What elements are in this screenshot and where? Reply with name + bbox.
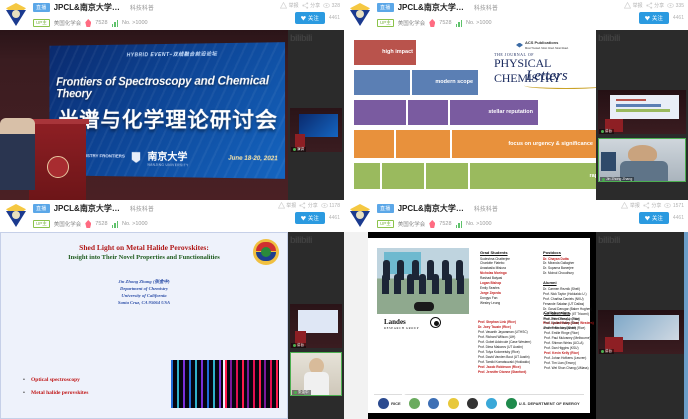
share-button[interactable]: 分享: [302, 2, 321, 9]
participant-name: 讲台: [599, 129, 614, 134]
landes-circle-icon: [430, 317, 441, 328]
acs-publications-label: ACS Publications: [525, 40, 558, 45]
participant-name: 张金中: [292, 390, 311, 395]
ucsc-logo-icon: [253, 239, 279, 265]
hot-count: 7528: [439, 221, 451, 227]
stream-header: 直播 JPCL&南京大学… 科技科普 UP主 美国化学会 7528 No. >1…: [0, 200, 344, 232]
rank-label: No. >1000: [122, 20, 148, 26]
participant-name: Jin Zhong Zhang: [600, 177, 634, 181]
bar-seg-divider: [354, 100, 408, 125]
bilibili-logo-icon: [347, 2, 373, 28]
rank-chart-icon: [112, 20, 119, 27]
stream-title[interactable]: JPCL&南京大学…: [398, 2, 464, 13]
dog: [414, 302, 434, 311]
bar-seg-divider: [354, 70, 412, 95]
name-item: Prof. Jennifer Dionne (Stanford): [478, 370, 544, 375]
conference-hall-photo: HYBRID EVENT–双线融合前沿论坛 Frontiers of Spect…: [0, 30, 288, 200]
shared-slide-perovskite[interactable]: Shed Light on Metal Halide Perovskites: …: [0, 232, 288, 419]
perovskite-title-slide: Shed Light on Metal Halide Perovskites: …: [0, 232, 288, 419]
sponsor-logo-row: RICE U.S. DEPARTMENT OF ENERGY: [374, 394, 584, 411]
name-item: Prof. Wei Shun Chang (UMass): [544, 366, 596, 371]
acknowledgements-slide: Landes RESEARCH GROUP Grad Students Sude…: [368, 238, 590, 413]
grad-students-column: Grad Students Sudeshna Chatterjee Charlo…: [480, 250, 538, 306]
report-button[interactable]: 举报: [621, 202, 640, 209]
share-label: 分享: [651, 202, 661, 209]
bar-label: stellar reputation: [488, 109, 533, 115]
stream-header: 直播 JPCL&南京大学… 科技科普 UP主 美国化学会 7528 No. >1…: [0, 0, 344, 30]
pane-edge-strip: [684, 232, 688, 419]
journal-swoosh: [524, 82, 596, 89]
stream-pane-bottom-right: 直播 JPCL&南京大学… 科技科普 UP主 美国化学会 7528 No. >1…: [344, 200, 688, 419]
stream-pane-top-right: 直播 JPCL&南京大学… 科技科普 UP主 美国化学会 7528 No. >1…: [344, 0, 688, 200]
share-label: 分享: [310, 2, 320, 9]
follow-button[interactable]: 关注: [295, 12, 325, 24]
follow-label: 关注: [308, 14, 319, 22]
stream-title[interactable]: JPCL&南京大学…: [54, 203, 120, 214]
bilibili-logo-icon: [3, 203, 29, 229]
bilibili-watermark: bilibili: [598, 33, 686, 43]
spectrum-image-left: [171, 360, 223, 408]
column-heading: Alumni: [543, 280, 596, 285]
stream-header: 直播 JPCL&南京大学… 科技科普 UP主 美国化学会 7528 No. >1…: [344, 200, 688, 232]
report-button[interactable]: 举报: [278, 202, 297, 209]
up-badge: UP主: [33, 220, 50, 228]
bar-seg-divider: [354, 163, 382, 189]
up-badge: UP主: [377, 220, 394, 228]
rank-label: No. >1000: [122, 221, 148, 227]
share-label: 分享: [308, 202, 318, 209]
participant-name: 讲台: [291, 343, 306, 348]
report-label: 举报: [633, 2, 643, 9]
stream-title[interactable]: JPCL&南京大学…: [54, 2, 120, 13]
participant-thumbnail-active-speaker[interactable]: 张金中: [290, 352, 342, 396]
column-heading: Grad Students: [480, 250, 538, 255]
sponsor-nih: [448, 398, 459, 409]
viewer-count-group: 328: [323, 2, 340, 9]
stream-category[interactable]: 科技科普: [130, 204, 154, 213]
report-label: 举报: [289, 2, 299, 9]
slide-bullet-list: Optical spectroscopy Metal halide perovs…: [23, 374, 88, 400]
uploader-name[interactable]: 美国化学会: [54, 19, 82, 27]
heart-icon: [645, 216, 650, 221]
stream-grid: 直播 JPCL&南京大学… 科技科普 UP主 美国化学会 7528 No. >1…: [0, 0, 688, 419]
sponsor-logo-row: ACS CHEMISTRY FRONTIERS 南京大学 NANJING UNI…: [63, 147, 278, 168]
stream-category[interactable]: 科技科普: [474, 3, 498, 12]
follow-button[interactable]: 关注: [639, 212, 669, 224]
rank-chart-icon: [112, 221, 119, 228]
bilibili-logo-icon: [3, 2, 29, 28]
spectrum-image-right: [225, 360, 279, 408]
stream-category[interactable]: 科技科普: [474, 204, 498, 213]
up-badge: UP主: [377, 19, 394, 27]
bilibili-watermark: bilibili: [290, 235, 342, 245]
share-label: 分享: [654, 2, 664, 9]
hot-count: 7528: [439, 20, 451, 26]
participant-thumbnail[interactable]: 演讲: [290, 108, 342, 152]
hot-icon: [429, 19, 435, 27]
bullet-item: Metal halide perovskites: [23, 387, 88, 400]
rank-chart-icon: [456, 20, 463, 27]
report-button[interactable]: 举报: [624, 2, 643, 9]
viewer-count-group: 1571: [664, 202, 684, 209]
affiliation-1: Department of Chemistry: [120, 286, 168, 291]
participant-thumbnail[interactable]: 讲台: [598, 310, 686, 354]
live-badge: 直播: [33, 3, 50, 12]
sponsor-doe: [486, 398, 497, 409]
follow-label: 关注: [652, 214, 663, 222]
slide-title-line2: Insight into Their Novel Properties and …: [1, 254, 287, 261]
university-name-cn: 南京大学: [148, 148, 189, 163]
column-heading: Postdocs: [543, 250, 596, 255]
hot-count: 7528: [95, 221, 107, 227]
viewer-count-group: 1178: [321, 202, 340, 209]
live-badge: 直播: [377, 3, 394, 12]
podium-seal: [47, 156, 69, 178]
hot-icon: [85, 220, 91, 228]
grad-students-list: Sudeshna Chatterjee Charlotte Flatebo An…: [480, 257, 538, 307]
report-label: 举报: [286, 202, 296, 209]
follower-count: 4461: [329, 215, 340, 221]
bar-seg-divider: [408, 100, 450, 125]
column-heading: Collaborators: [544, 310, 596, 315]
bilibili-watermark: bilibili: [290, 33, 342, 43]
sponsor-acs-prf: [467, 398, 478, 409]
conference-title-en: Frontiers of Spectroscopy and Chemical T…: [56, 74, 278, 99]
slide-title-line1: Shed Light on Metal Halide Perovskites:: [1, 243, 287, 252]
collaborators-list-continued: Prof. Peter Rossky (Rice) Prof. Naomi Ha…: [544, 317, 596, 371]
bar-label: focus on urgency & significance: [508, 141, 593, 147]
live-badge: 直播: [377, 204, 394, 213]
follow-label: 关注: [652, 14, 663, 22]
bar-seg-divider: [354, 130, 396, 158]
hot-count: 7528: [95, 20, 107, 26]
collaborators-column-2: Collaborators Prof. Peter Rossky (Rice) …: [544, 320, 596, 371]
share-button[interactable]: 分享: [299, 202, 318, 209]
bar-seg-divider: [354, 40, 418, 65]
sponsor-welch: [409, 398, 420, 409]
video-stage[interactable]: ACS Publications Most Trusted. Most Cite…: [344, 30, 688, 200]
bilibili-logo-icon: [347, 203, 373, 229]
live-badge: 直播: [33, 204, 50, 213]
acs-flask-icon: [516, 43, 523, 48]
participant-thumbnail-active-speaker[interactable]: Jin Zhong Zhang: [598, 138, 686, 182]
hybrid-event-label: HYBRID EVENT–双线融合前沿论坛: [127, 49, 218, 57]
participant-sidebar[interactable]: bilibili 讲台 张金中: [288, 232, 344, 419]
shared-slide-journal[interactable]: ACS Publications Most Trusted. Most Cite…: [344, 30, 596, 200]
sponsor-rice: RICE: [378, 398, 401, 409]
rank-label: No. >1000: [466, 221, 492, 227]
affiliation-3: Santa Cruz, CA 95064 USA: [118, 300, 170, 305]
report-button[interactable]: 举报: [280, 2, 299, 9]
participant-name: 讲台: [599, 349, 614, 354]
name-item: Dr. Moinul Choudhury: [543, 271, 596, 276]
conference-dates: June 18-20, 2021: [228, 155, 278, 162]
viewer-count-group: 335: [667, 2, 684, 9]
shared-slide-group[interactable]: Landes RESEARCH GROUP Grad Students Sude…: [344, 232, 596, 419]
participant-name: 演讲: [291, 147, 306, 152]
rank-chart-icon: [456, 221, 463, 228]
uploader-name[interactable]: 美国化学会: [54, 220, 82, 228]
uploader-name[interactable]: 美国化学会: [398, 19, 426, 27]
author-name: Jin Zhong Zhang (张金中): [118, 279, 169, 284]
stream-category[interactable]: 科技科普: [130, 3, 154, 12]
heart-icon: [301, 16, 306, 21]
group-photo: [377, 248, 469, 314]
bar-seg-divider: [396, 130, 452, 158]
stream-header: 直播 JPCL&南京大学… 科技科普 UP主 美国化学会 7528 No. >1…: [344, 0, 688, 30]
conference-title-cn: 光谱与化学理论研讨会: [58, 103, 278, 134]
report-label: 举报: [630, 202, 640, 209]
group-name: Landes: [384, 318, 406, 326]
bar-seg-divider: [426, 163, 470, 189]
follower-count: 4461: [329, 15, 340, 21]
collaborators-column-1: Prof. Stephan Link (Rice) Dr. Joey Tauzi…: [478, 320, 544, 374]
hot-icon: [429, 220, 435, 228]
viewer-count: 328: [332, 3, 340, 9]
participant-sidebar[interactable]: bilibili 讲台: [596, 232, 688, 419]
uploader-name[interactable]: 美国化学会: [398, 220, 426, 228]
rank-label: No. >1000: [466, 20, 492, 26]
video-stage[interactable]: Shed Light on Metal Halide Perovskites: …: [0, 232, 344, 419]
hot-icon: [85, 19, 91, 27]
share-button[interactable]: 分享: [646, 2, 665, 9]
follower-count: 4461: [673, 15, 684, 21]
follower-count: 4461: [673, 215, 684, 221]
university-name-en: NANJING UNIVERSITY: [148, 163, 189, 168]
stream-pane-bottom-left: 直播 JPCL&南京大学… 科技科普 UP主 美国化学会 7528 No. >1…: [0, 200, 344, 419]
landes-group-logo: Landes RESEARCH GROUP: [384, 318, 419, 330]
sponsor-energy: U.S. DEPARTMENT OF ENERGY: [506, 398, 580, 409]
video-stage[interactable]: Landes RESEARCH GROUP Grad Students Sude…: [344, 232, 688, 419]
participant-thumbnail[interactable]: 讲台: [598, 90, 686, 134]
author-block: Jin Zhong Zhang (张金中) Department of Chem…: [1, 279, 287, 307]
bilibili-watermark: bilibili: [598, 235, 686, 245]
video-stage[interactable]: HYBRID EVENT–双线融合前沿论坛 Frontiers of Spect…: [0, 30, 344, 200]
nanjing-shield-icon: [132, 152, 141, 163]
collaborators-list: Prof. Stephan Link (Rice) Dr. Joey Tauzi…: [478, 320, 544, 374]
stream-pane-top-left: 直播 JPCL&南京大学… 科技科普 UP主 美国化学会 7528 No. >1…: [0, 0, 344, 200]
group-subtitle: RESEARCH GROUP: [384, 326, 419, 330]
sponsor-nsf: [428, 398, 439, 409]
viewer-count: 1571: [673, 203, 684, 209]
viewer-count: 1178: [329, 203, 340, 209]
bar-label: modern scope: [435, 79, 473, 85]
heart-icon: [301, 216, 306, 221]
bar-seg-divider: [382, 163, 426, 189]
heart-icon: [645, 16, 650, 21]
follow-button[interactable]: 关注: [295, 212, 325, 224]
speaker-person: [0, 118, 35, 189]
journal-bar-chart-slide: ACS Publications Most Trusted. Most Cite…: [344, 30, 596, 200]
stream-title[interactable]: JPCL&南京大学…: [398, 203, 464, 214]
up-badge: UP主: [33, 19, 50, 27]
share-button[interactable]: 分享: [643, 202, 662, 209]
bullet-item: Optical spectroscopy: [23, 374, 88, 387]
participant-sidebar[interactable]: bilibili 讲台 Jin Zhong Zhang: [596, 30, 688, 200]
acs-publications-logo: ACS Publications Most Trusted. Most Cite…: [516, 40, 569, 50]
affiliation-2: University of California: [121, 293, 166, 298]
participant-sidebar[interactable]: bilibili 演讲: [288, 30, 344, 200]
name-item: Wesley Leung: [480, 301, 538, 306]
podium: [29, 122, 87, 200]
shared-slide-conference-photo[interactable]: HYBRID EVENT–双线融合前沿论坛 Frontiers of Spect…: [0, 30, 288, 200]
slide-left-strip: [344, 232, 368, 419]
postdocs-list: Dr. Chayan Dutta Dr. Miranda Gallagher D…: [543, 257, 596, 277]
participant-thumbnail[interactable]: 讲台: [290, 304, 342, 348]
viewer-count: 335: [676, 3, 684, 9]
photo-people-row: [379, 274, 467, 294]
follow-label: 关注: [308, 214, 319, 222]
follow-button[interactable]: 关注: [639, 12, 669, 24]
acs-tagline: Most Trusted. Most Cited. Most Read.: [525, 47, 569, 50]
